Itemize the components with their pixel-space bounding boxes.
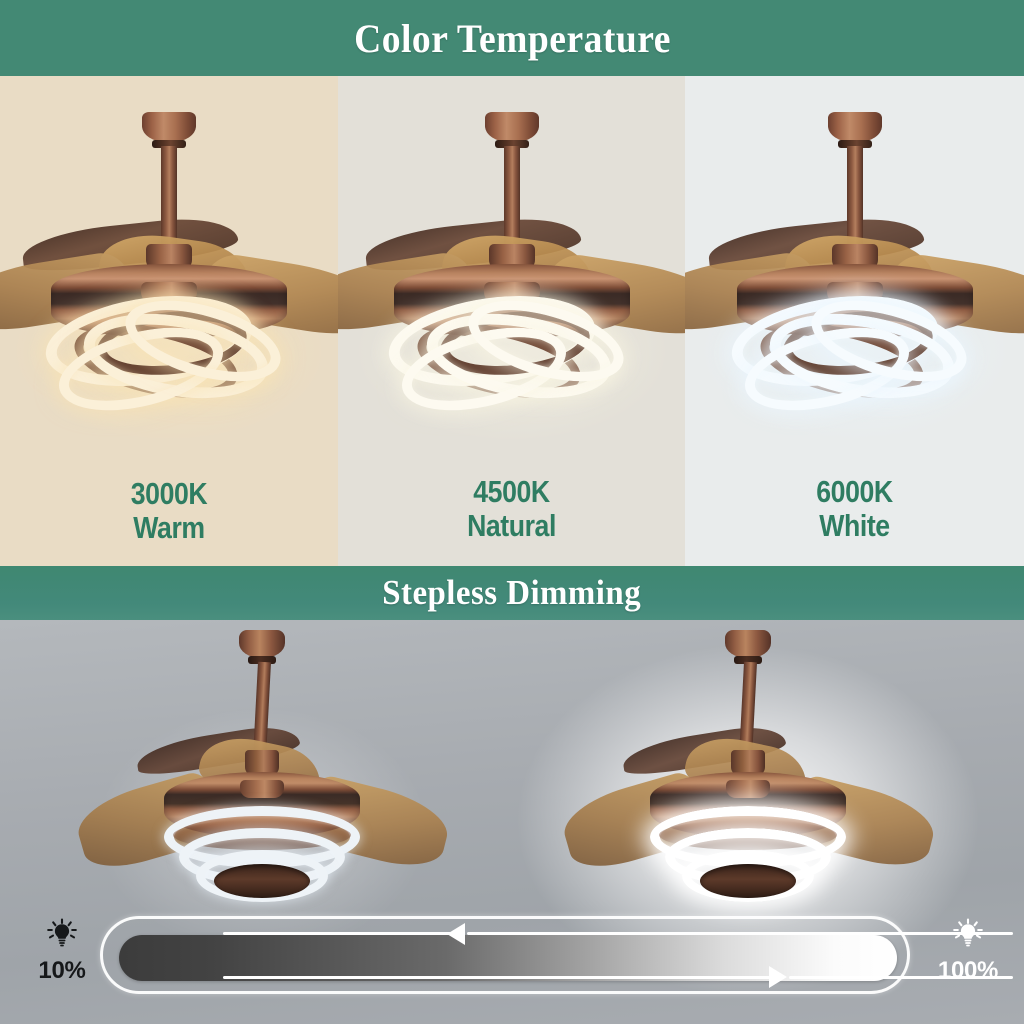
stepless-dimming-panel: 10% [0, 620, 1024, 1024]
color-temperature-panel-4500k: 4500K Natural [338, 76, 685, 566]
lightbulb-dim-icon [14, 918, 110, 953]
color-temperature-label-3000k: 3000K Warm [24, 477, 315, 546]
fan-motor-core [214, 864, 310, 898]
dimming-slider-row: 10% [0, 910, 1024, 1002]
kelvin-name: Warm [24, 511, 315, 546]
ceiling-canopy [725, 630, 771, 658]
fan-hub [240, 780, 284, 798]
kelvin-name: White [709, 509, 1001, 544]
max-brightness-label: 100% [938, 957, 998, 984]
max-brightness-group: 100% [920, 918, 1016, 985]
led-ring-cluster [39, 298, 299, 418]
ceiling-fan-light-icon [347, 112, 677, 412]
color-temperature-panel-3000k: 3000K Warm [0, 76, 338, 566]
lightbulb-bright-icon [920, 918, 1016, 953]
kelvin-value: 4500K [362, 475, 660, 510]
led-ring-cluster [725, 298, 985, 418]
ceiling-canopy [239, 630, 285, 658]
stepless-dimming-header: Stepless Dimming [0, 566, 1024, 620]
led-ring-stack [152, 806, 372, 916]
fan-motor-core [700, 864, 796, 898]
ceiling-canopy [828, 112, 882, 142]
led-ring-stack [638, 806, 858, 916]
ceiling-fan-light-icon [4, 112, 334, 412]
kelvin-value: 3000K [24, 477, 315, 512]
color-temperature-label-6000k: 6000K White [709, 475, 1001, 544]
arrow-guide-line [223, 932, 451, 935]
color-temperature-panels: 3000K Warm [0, 76, 1024, 566]
arrow-right-icon[interactable] [769, 966, 787, 988]
kelvin-name: Natural [362, 509, 660, 544]
color-temperature-label-4500k: 4500K Natural [362, 475, 660, 544]
ceiling-fan-light-icon [690, 112, 1020, 412]
color-temperature-title: Color Temperature [354, 15, 671, 62]
ceiling-canopy [485, 112, 539, 142]
ceiling-fan-light-dim-icon [112, 630, 412, 910]
ceiling-fan-light-bright-icon [598, 630, 898, 910]
ceiling-canopy [142, 112, 196, 142]
kelvin-value: 6000K [709, 475, 1001, 510]
brightness-slider[interactable] [100, 916, 910, 994]
color-temperature-panel-6000k: 6000K White [685, 76, 1024, 566]
min-brightness-group: 10% [14, 918, 110, 985]
fan-hub [726, 780, 770, 798]
arrow-guide-line [223, 976, 773, 979]
led-ring-cluster [382, 298, 642, 418]
stepless-dimming-title: Stepless Dimming [383, 573, 642, 613]
color-temperature-header: Color Temperature [0, 0, 1024, 76]
product-feature-infographic: Color Temperature [0, 0, 1024, 1024]
arrow-left-icon[interactable] [447, 923, 465, 945]
min-brightness-label: 10% [38, 957, 85, 984]
